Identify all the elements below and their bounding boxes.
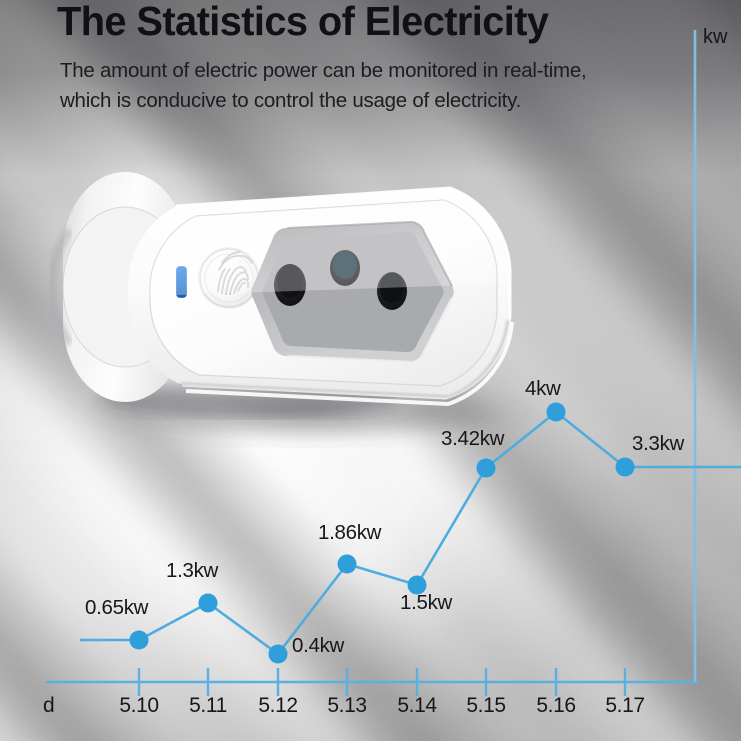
point-label-0: 0.65kw: [85, 596, 148, 620]
page-title: The Statistics of Electricity: [57, 0, 548, 45]
data-markers: [130, 403, 635, 664]
x-tick-label-3: 5.13: [327, 694, 366, 718]
x-tick-label-0: 5.10: [119, 694, 158, 718]
point-label-3: 1.86kw: [318, 521, 381, 545]
infographic-page: The Statistics of Electricity The amount…: [0, 0, 741, 741]
subtitle-line-2: which is conducive to control the usage …: [60, 86, 700, 116]
x-axis-unit-label: d: [43, 694, 55, 718]
point-label-4: 1.5kw: [400, 591, 452, 615]
x-tick-label-2: 5.12: [258, 694, 297, 718]
point-label-2: 0.4kw: [292, 634, 344, 658]
point-label-6: 4kw: [525, 377, 561, 401]
x-tick-label-7: 5.17: [605, 694, 644, 718]
data-line: [139, 412, 625, 654]
x-tick-label-4: 5.14: [397, 694, 436, 718]
x-tick-label-5: 5.15: [466, 694, 505, 718]
y-axis-unit-label: kw: [703, 26, 727, 49]
subtitle-line-1: The amount of electric power can be moni…: [60, 56, 700, 86]
x-tick-label-1: 5.11: [189, 694, 227, 718]
page-subtitle: The amount of electric power can be moni…: [60, 56, 700, 116]
point-label-1: 1.3kw: [166, 559, 218, 583]
x-tick-label-6: 5.16: [536, 694, 575, 718]
point-label-5: 3.42kw: [441, 427, 504, 451]
point-label-7: 3.3kw: [632, 432, 684, 456]
